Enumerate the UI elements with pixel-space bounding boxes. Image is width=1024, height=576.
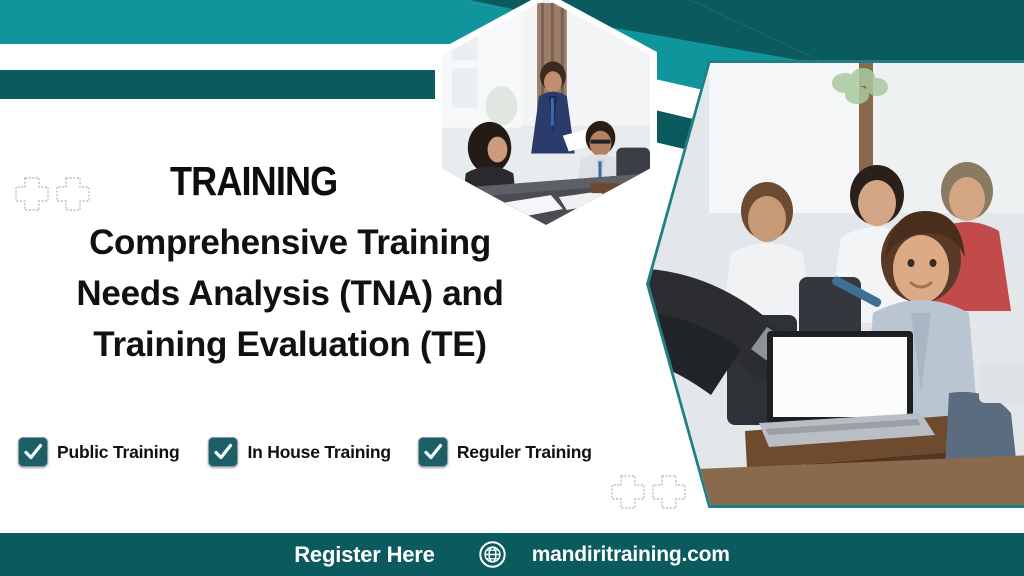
headline-line-1: Comprehensive Training (0, 218, 580, 269)
decor-x-cluster-bottom (610, 474, 687, 510)
page-kicker: TRAINING (170, 158, 337, 205)
decor-x-cluster-left (14, 176, 91, 212)
x-cross-icon (651, 474, 687, 510)
checkbox-in-house-training[interactable] (208, 437, 238, 467)
classroom-training-session-photo (649, 63, 1024, 505)
training-types-list: Public Training In House Training Regule… (18, 437, 592, 467)
training-type-label: Reguler Training (457, 442, 592, 463)
main-photo-frame (646, 60, 1024, 508)
headline-line-2: Needs Analysis (TNA) and (0, 269, 580, 320)
headline-line-3: Training Evaluation (TE) (0, 320, 580, 371)
training-type-reguler[interactable]: Reguler Training (418, 437, 592, 467)
training-type-public[interactable]: Public Training (18, 437, 179, 467)
page-title: Comprehensive Training Needs Analysis (T… (0, 218, 580, 370)
globe-icon (479, 541, 506, 568)
training-promo-poster: TRAINING Comprehensive Training Needs An… (0, 0, 1024, 576)
training-type-label: In House Training (247, 442, 390, 463)
training-type-label: Public Training (57, 442, 179, 463)
x-cross-icon (55, 176, 91, 212)
meeting-room-discussion-photo (442, 0, 650, 225)
training-type-in-house[interactable]: In House Training (208, 437, 390, 467)
checkmark-icon (22, 441, 44, 463)
x-cross-icon (14, 176, 50, 212)
x-cross-icon (610, 474, 646, 510)
website-url[interactable]: mandiritraining.com (532, 543, 730, 567)
checkmark-icon (422, 441, 444, 463)
checkbox-reguler-training[interactable] (418, 437, 448, 467)
checkbox-public-training[interactable] (18, 437, 48, 467)
register-cta[interactable]: Register Here (294, 542, 434, 568)
footer-bar: Register Here mandiritraining.com (0, 533, 1024, 576)
checkmark-icon (212, 441, 234, 463)
